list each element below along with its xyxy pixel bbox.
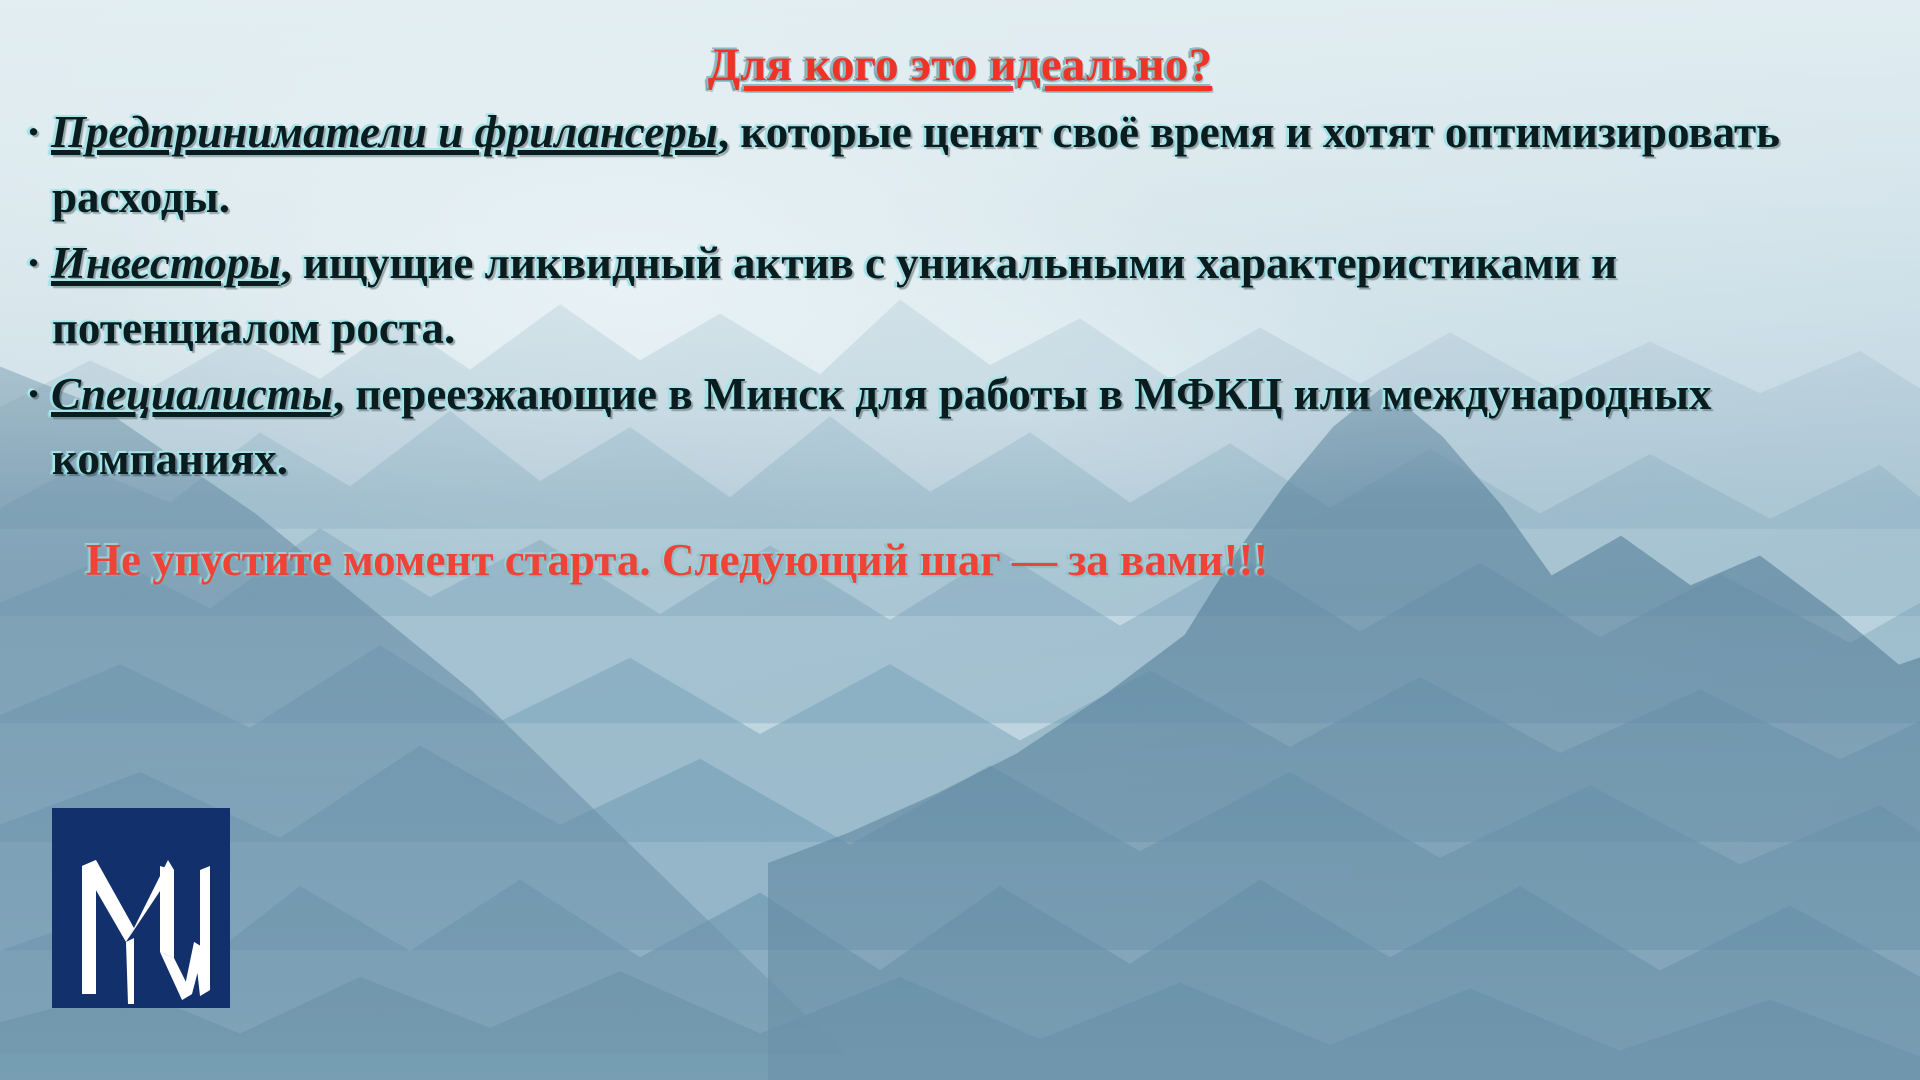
slide-title: Для кого это идеально? — [0, 0, 1920, 92]
slide-canvas: Для кого это идеально? ·Предприниматели … — [0, 0, 1920, 1080]
bullet-lead-term: Инвесторы — [51, 238, 281, 288]
list-item: ·Предприниматели и фрилансеры, которые ц… — [52, 100, 1892, 231]
bullet-marker: · — [26, 107, 51, 157]
mw-monogram-mark — [82, 860, 210, 1004]
bullet-lead-term: Предприниматели и фрилансеры — [51, 107, 718, 157]
brand-logo-mw — [52, 808, 230, 1008]
bullet-lead-term: Специалисты — [51, 369, 333, 419]
call-to-action-text: Не упустите момент старта. Следующий шаг… — [0, 533, 1920, 587]
slide-content: Для кого это идеально? ·Предприниматели … — [0, 0, 1920, 587]
bullet-marker: · — [26, 369, 51, 419]
list-item: ·Инвесторы, ищущие ликвидный актив с уни… — [52, 231, 1892, 362]
bullet-body-text: , ищущие ликвидный актив с уникальными х… — [52, 238, 1617, 353]
bullet-marker: · — [26, 238, 51, 288]
list-item: ·Специалисты, переезжающие в Минск для р… — [52, 362, 1892, 493]
audience-bullet-list: ·Предприниматели и фрилансеры, которые ц… — [0, 100, 1920, 493]
